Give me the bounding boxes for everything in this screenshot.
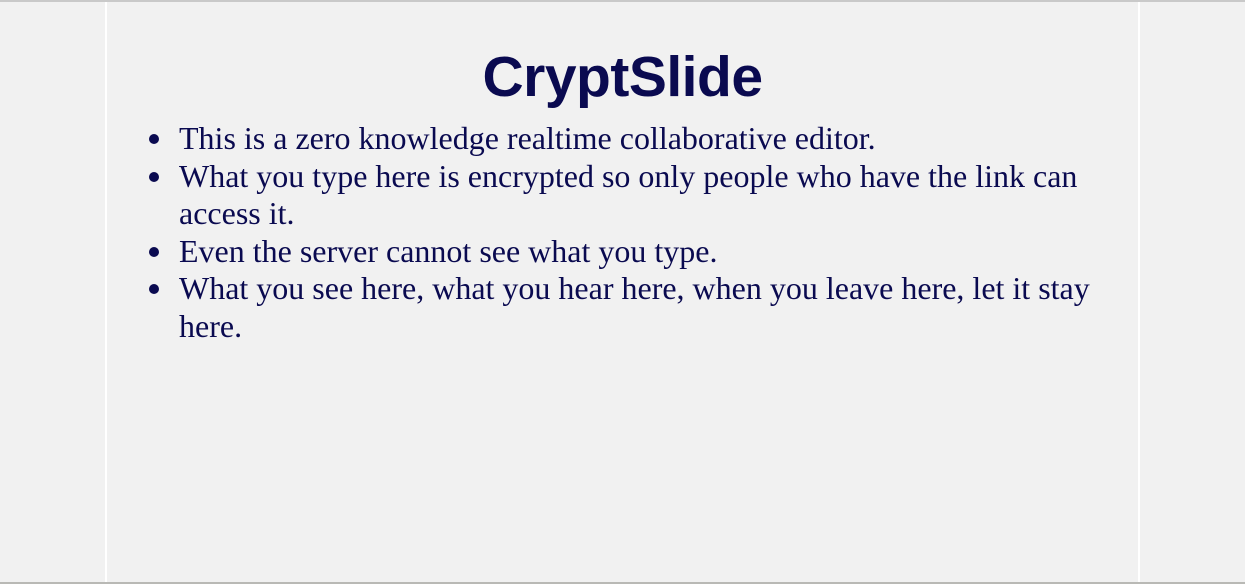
disc-bullet-icon	[149, 284, 159, 294]
list-item[interactable]: What you see here, what you hear here, w…	[107, 270, 1120, 345]
slide-canvas[interactable]: CryptSlide This is a zero knowledge real…	[105, 2, 1140, 582]
list-item[interactable]: Even the server cannot see what you type…	[107, 233, 1120, 271]
slide-bullet-list: This is a zero knowledge realtime collab…	[107, 120, 1120, 345]
slide-viewer: CryptSlide This is a zero knowledge real…	[0, 0, 1245, 584]
disc-bullet-icon	[149, 247, 159, 257]
list-item-text: This is a zero knowledge realtime collab…	[179, 120, 1120, 158]
list-item-text: Even the server cannot see what you type…	[179, 233, 1120, 271]
list-item[interactable]: What you type here is encrypted so only …	[107, 158, 1120, 233]
list-item[interactable]: This is a zero knowledge realtime collab…	[107, 120, 1120, 158]
list-item-text: What you see here, what you hear here, w…	[179, 270, 1120, 345]
left-gutter	[0, 2, 105, 582]
slide-title: CryptSlide	[107, 46, 1138, 108]
disc-bullet-icon	[149, 172, 159, 182]
right-gutter	[1140, 2, 1245, 582]
list-item-text: What you type here is encrypted so only …	[179, 158, 1120, 233]
disc-bullet-icon	[149, 134, 159, 144]
